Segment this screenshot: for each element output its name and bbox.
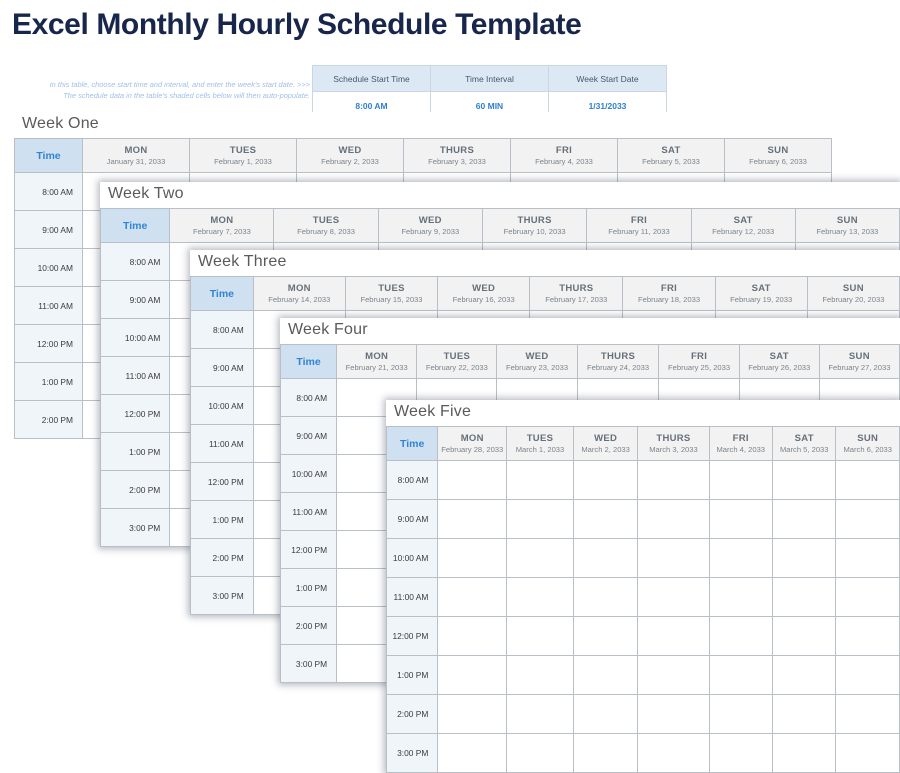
schedule-slot-cell[interactable]: [709, 695, 772, 734]
table-header-row: TimeMONFebruary 7, 2033TUESFebruary 8, 2…: [101, 209, 900, 243]
settings-header-row: Schedule Start Time Time Interval Week S…: [313, 66, 667, 92]
schedule-slot-cell[interactable]: [573, 461, 638, 500]
day-date-label: February 23, 2033: [499, 363, 574, 373]
day-date-label: February 19, 2033: [718, 295, 805, 305]
time-label-cell: 1:00 PM: [281, 569, 337, 607]
day-of-week-label: TUES: [192, 145, 294, 157]
day-column-header-wed: WEDMarch 2, 2033: [573, 427, 638, 461]
schedule-slot-cell[interactable]: [507, 617, 574, 656]
day-column-header-sat: SATFebruary 19, 2033: [715, 277, 807, 311]
schedule-slot-cell[interactable]: [507, 734, 574, 773]
day-of-week-label: TUES: [348, 283, 435, 295]
day-of-week-label: FRI: [661, 351, 736, 363]
schedule-slot-cell[interactable]: [438, 461, 507, 500]
schedule-slot-cell[interactable]: [507, 578, 574, 617]
time-column-header: Time: [15, 139, 83, 173]
schedule-slot-cell[interactable]: [638, 500, 709, 539]
day-column-header-tues: TUESFebruary 1, 2033: [190, 139, 297, 173]
day-column-header-wed: WEDFebruary 2, 2033: [297, 139, 404, 173]
time-label-cell: 11:00 AM: [387, 578, 438, 617]
schedule-slot-cell[interactable]: [836, 656, 900, 695]
day-of-week-label: MON: [339, 351, 414, 363]
time-label-cell: 11:00 AM: [281, 493, 337, 531]
day-column-header-mon: MONJanuary 31, 2033: [83, 139, 190, 173]
day-of-week-label: WED: [381, 215, 480, 227]
time-label-cell: 11:00 AM: [15, 287, 83, 325]
table-header-row: TimeMONFebruary 28, 2033TUESMarch 1, 203…: [387, 427, 900, 461]
day-date-label: February 17, 2033: [532, 295, 620, 305]
time-label-cell: 11:00 AM: [101, 357, 170, 395]
schedule-slot-cell[interactable]: [836, 500, 900, 539]
schedule-slot-cell[interactable]: [507, 539, 574, 578]
settings-header-schedule-start-time: Schedule Start Time: [313, 66, 431, 92]
day-of-week-label: THURS: [532, 283, 620, 295]
time-label-cell: 2:00 PM: [101, 471, 170, 509]
day-date-label: February 20, 2033: [810, 295, 897, 305]
table-row: 9:00 AM: [387, 500, 900, 539]
time-label-cell: 2:00 PM: [387, 695, 438, 734]
schedule-slot-cell[interactable]: [709, 617, 772, 656]
day-of-week-label: SUN: [822, 351, 897, 363]
time-label-cell: 8:00 AM: [101, 243, 170, 281]
schedule-slot-cell[interactable]: [507, 500, 574, 539]
schedule-slot-cell[interactable]: [772, 578, 835, 617]
day-date-label: February 18, 2033: [625, 295, 712, 305]
day-date-label: February 15, 2033: [348, 295, 435, 305]
schedule-slot-cell[interactable]: [573, 734, 638, 773]
schedule-slot-cell[interactable]: [709, 578, 772, 617]
time-label-cell: 3:00 PM: [101, 509, 170, 547]
week-title-week-three: Week Three: [190, 250, 900, 276]
schedule-slot-cell[interactable]: [772, 500, 835, 539]
schedule-slot-cell[interactable]: [638, 656, 709, 695]
time-label-cell: 12:00 PM: [191, 463, 254, 501]
table-row: 1:00 PM: [387, 656, 900, 695]
day-column-header-sun: SUNFebruary 20, 2033: [807, 277, 899, 311]
day-date-label: March 1, 2033: [509, 445, 571, 455]
day-date-label: February 7, 2033: [172, 227, 271, 237]
week-title-week-two: Week Two: [100, 182, 900, 208]
time-label-cell: 8:00 AM: [281, 379, 337, 417]
day-column-header-fri: FRIMarch 4, 2033: [709, 427, 772, 461]
day-date-label: February 6, 2033: [727, 157, 829, 167]
day-date-label: February 2, 2033: [299, 157, 401, 167]
day-of-week-label: FRI: [513, 145, 615, 157]
time-label-cell: 8:00 AM: [191, 311, 254, 349]
schedule-slot-cell[interactable]: [638, 461, 709, 500]
day-column-header-thurs: THURSFebruary 17, 2033: [530, 277, 623, 311]
day-of-week-label: SUN: [727, 145, 829, 157]
week-title-week-five: Week Five: [386, 400, 900, 426]
schedule-slot-cell[interactable]: [709, 539, 772, 578]
schedule-slot-cell[interactable]: [573, 617, 638, 656]
time-label-cell: 12:00 PM: [281, 531, 337, 569]
time-label-cell: 2:00 PM: [281, 607, 337, 645]
table-row: 12:00 PM: [387, 617, 900, 656]
day-date-label: February 24, 2033: [580, 363, 657, 373]
time-column-header: Time: [387, 427, 438, 461]
schedule-slot-cell[interactable]: [836, 539, 900, 578]
week-title-week-one: Week One: [14, 112, 832, 138]
day-date-label: March 4, 2033: [712, 445, 770, 455]
day-date-label: February 16, 2033: [440, 295, 527, 305]
day-column-header-sun: SUNMarch 6, 2033: [836, 427, 900, 461]
day-of-week-label: WED: [440, 283, 527, 295]
day-of-week-label: FRI: [589, 215, 688, 227]
time-label-cell: 3:00 PM: [387, 734, 438, 773]
table-row: 2:00 PM: [387, 695, 900, 734]
instructions-line-1: In this table, choose start time and int…: [18, 79, 310, 90]
day-column-header-wed: WEDFebruary 16, 2033: [438, 277, 530, 311]
day-of-week-label: FRI: [712, 433, 770, 445]
schedule-slot-cell[interactable]: [573, 500, 638, 539]
table-row: 11:00 AM: [387, 578, 900, 617]
day-of-week-label: SUN: [810, 283, 897, 295]
table-row: 8:00 AM: [387, 461, 900, 500]
schedule-slot-cell[interactable]: [772, 734, 835, 773]
day-date-label: February 12, 2033: [694, 227, 793, 237]
time-label-cell: 12:00 PM: [15, 325, 83, 363]
time-label-cell: 8:00 AM: [15, 173, 83, 211]
schedule-slot-cell[interactable]: [438, 500, 507, 539]
day-column-header-tues: TUESMarch 1, 2033: [507, 427, 574, 461]
time-label-cell: 3:00 PM: [191, 577, 254, 615]
schedule-slot-cell[interactable]: [709, 461, 772, 500]
time-label-cell: 9:00 AM: [191, 349, 254, 387]
schedule-slot-cell[interactable]: [836, 734, 900, 773]
day-column-header-mon: MONFebruary 14, 2033: [253, 277, 345, 311]
schedule-slot-cell[interactable]: [573, 578, 638, 617]
instructions-line-2: The schedule data in the table's shaded …: [18, 90, 310, 101]
day-date-label: February 9, 2033: [381, 227, 480, 237]
time-label-cell: 12:00 PM: [387, 617, 438, 656]
day-date-label: February 4, 2033: [513, 157, 615, 167]
day-of-week-label: WED: [299, 145, 401, 157]
day-date-label: March 2, 2033: [576, 445, 636, 455]
time-label-cell: 2:00 PM: [191, 539, 254, 577]
day-of-week-label: MON: [172, 215, 271, 227]
day-column-header-sat: SATMarch 5, 2033: [772, 427, 835, 461]
schedule-slot-cell[interactable]: [507, 656, 574, 695]
day-column-header-tues: TUESFebruary 22, 2033: [417, 345, 497, 379]
time-label-cell: 9:00 AM: [281, 417, 337, 455]
day-of-week-label: WED: [499, 351, 574, 363]
schedule-slot-cell[interactable]: [507, 695, 574, 734]
day-column-header-thurs: THURSMarch 3, 2033: [638, 427, 709, 461]
time-label-cell: 10:00 AM: [15, 249, 83, 287]
time-label-cell: 1:00 PM: [15, 363, 83, 401]
day-column-header-wed: WEDFebruary 9, 2033: [378, 209, 482, 243]
day-of-week-label: THURS: [485, 215, 585, 227]
schedule-slot-cell[interactable]: [573, 695, 638, 734]
day-column-header-fri: FRIFebruary 18, 2033: [623, 277, 715, 311]
table-header-row: TimeMONJanuary 31, 2033TUESFebruary 1, 2…: [15, 139, 832, 173]
day-column-header-sat: SATFebruary 12, 2033: [691, 209, 795, 243]
day-date-label: March 6, 2033: [838, 445, 897, 455]
table-row: 3:00 PM: [387, 734, 900, 773]
schedule-slot-cell[interactable]: [709, 500, 772, 539]
schedule-slot-cell[interactable]: [438, 734, 507, 773]
day-of-week-label: WED: [576, 433, 636, 445]
settings-header-week-start-date: Week Start Date: [549, 66, 667, 92]
time-label-cell: 9:00 AM: [101, 281, 170, 319]
schedule-slot-cell[interactable]: [438, 656, 507, 695]
day-date-label: February 13, 2033: [798, 227, 897, 237]
day-of-week-label: SAT: [694, 215, 793, 227]
day-column-header-tues: TUESFebruary 8, 2033: [274, 209, 378, 243]
time-label-cell: 9:00 AM: [387, 500, 438, 539]
time-label-cell: 10:00 AM: [281, 455, 337, 493]
time-label-cell: 12:00 PM: [101, 395, 170, 433]
day-column-header-fri: FRIFebruary 11, 2033: [587, 209, 691, 243]
day-column-header-wed: WEDFebruary 23, 2033: [497, 345, 577, 379]
day-column-header-sun: SUNFebruary 27, 2033: [819, 345, 899, 379]
day-of-week-label: TUES: [509, 433, 571, 445]
day-of-week-label: SAT: [742, 351, 817, 363]
schedule-slot-cell[interactable]: [772, 539, 835, 578]
schedule-slot-cell[interactable]: [836, 578, 900, 617]
schedule-slot-cell[interactable]: [772, 695, 835, 734]
schedule-slot-cell[interactable]: [507, 461, 574, 500]
schedule-slot-cell[interactable]: [836, 695, 900, 734]
day-of-week-label: MON: [440, 433, 504, 445]
day-date-label: February 14, 2033: [256, 295, 343, 305]
day-of-week-label: THURS: [640, 433, 706, 445]
day-of-week-label: TUES: [276, 215, 375, 227]
day-date-label: February 3, 2033: [406, 157, 508, 167]
schedule-slot-cell[interactable]: [772, 617, 835, 656]
time-label-cell: 3:00 PM: [281, 645, 337, 683]
day-column-header-thurs: THURSFebruary 3, 2033: [404, 139, 511, 173]
day-column-header-sat: SATFebruary 26, 2033: [739, 345, 819, 379]
schedule-slot-cell[interactable]: [638, 734, 709, 773]
schedule-slot-cell[interactable]: [836, 617, 900, 656]
day-column-header-fri: FRIFebruary 25, 2033: [659, 345, 739, 379]
day-column-header-sun: SUNFebruary 13, 2033: [795, 209, 899, 243]
schedule-slot-cell[interactable]: [709, 734, 772, 773]
day-of-week-label: TUES: [419, 351, 494, 363]
schedule-slot-cell[interactable]: [438, 617, 507, 656]
day-of-week-label: MON: [85, 145, 187, 157]
day-date-label: February 26, 2033: [742, 363, 817, 373]
day-of-week-label: FRI: [625, 283, 712, 295]
schedule-slot-cell[interactable]: [573, 539, 638, 578]
day-column-header-sun: SUNFebruary 6, 2033: [725, 139, 832, 173]
time-label-cell: 10:00 AM: [387, 539, 438, 578]
day-date-label: February 27, 2033: [822, 363, 897, 373]
time-label-cell: 10:00 AM: [101, 319, 170, 357]
time-label-cell: 1:00 PM: [101, 433, 170, 471]
day-of-week-label: SAT: [718, 283, 805, 295]
table-header-row: TimeMONFebruary 14, 2033TUESFebruary 15,…: [191, 277, 900, 311]
day-date-label: February 21, 2033: [339, 363, 414, 373]
time-column-header: Time: [191, 277, 254, 311]
schedule-slot-cell[interactable]: [772, 461, 835, 500]
day-of-week-label: THURS: [580, 351, 657, 363]
time-label-cell: 10:00 AM: [191, 387, 254, 425]
day-column-header-tues: TUESFebruary 15, 2033: [345, 277, 437, 311]
day-column-header-sat: SATFebruary 5, 2033: [618, 139, 725, 173]
day-of-week-label: SUN: [838, 433, 897, 445]
schedule-slot-cell[interactable]: [836, 461, 900, 500]
day-of-week-label: SAT: [775, 433, 833, 445]
day-of-week-label: THURS: [406, 145, 508, 157]
day-date-label: January 31, 2033: [85, 157, 187, 167]
schedule-slot-cell[interactable]: [438, 578, 507, 617]
day-date-label: February 1, 2033: [192, 157, 294, 167]
time-label-cell: 1:00 PM: [387, 656, 438, 695]
day-date-label: February 5, 2033: [620, 157, 722, 167]
week-card-week-five: Week FiveTimeMONFebruary 28, 2033TUESMar…: [386, 400, 900, 773]
settings-header-time-interval: Time Interval: [431, 66, 549, 92]
page-title: Excel Monthly Hourly Schedule Template: [12, 8, 581, 42]
day-column-header-mon: MONFebruary 21, 2033: [337, 345, 417, 379]
time-column-header: Time: [101, 209, 170, 243]
day-date-label: February 22, 2033: [419, 363, 494, 373]
time-label-cell: 11:00 AM: [191, 425, 254, 463]
schedule-slot-cell[interactable]: [438, 695, 507, 734]
day-date-label: February 25, 2033: [661, 363, 736, 373]
day-date-label: February 8, 2033: [276, 227, 375, 237]
schedule-slot-cell[interactable]: [638, 617, 709, 656]
day-date-label: February 11, 2033: [589, 227, 688, 237]
day-column-header-thurs: THURSFebruary 10, 2033: [482, 209, 587, 243]
day-date-label: February 10, 2033: [485, 227, 585, 237]
day-column-header-mon: MONFebruary 28, 2033: [438, 427, 507, 461]
time-label-cell: 1:00 PM: [191, 501, 254, 539]
time-label-cell: 2:00 PM: [15, 401, 83, 439]
day-of-week-label: SUN: [798, 215, 897, 227]
time-column-header: Time: [281, 345, 337, 379]
table-header-row: TimeMONFebruary 21, 2033TUESFebruary 22,…: [281, 345, 900, 379]
schedule-slot-cell[interactable]: [638, 539, 709, 578]
day-date-label: March 5, 2033: [775, 445, 833, 455]
schedule-slot-cell[interactable]: [638, 578, 709, 617]
table-row: 10:00 AM: [387, 539, 900, 578]
schedule-slot-cell[interactable]: [638, 695, 709, 734]
schedule-slot-cell[interactable]: [573, 656, 638, 695]
schedule-slot-cell[interactable]: [709, 656, 772, 695]
instructions-note: In this table, choose start time and int…: [18, 79, 310, 102]
day-of-week-label: MON: [256, 283, 343, 295]
day-date-label: March 3, 2033: [640, 445, 706, 455]
day-date-label: February 28, 2033: [440, 445, 504, 455]
schedule-table-week-five: TimeMONFebruary 28, 2033TUESMarch 1, 203…: [386, 426, 900, 773]
day-column-header-fri: FRIFebruary 4, 2033: [511, 139, 618, 173]
schedule-slot-cell[interactable]: [438, 539, 507, 578]
day-of-week-label: SAT: [620, 145, 722, 157]
day-column-header-thurs: THURSFebruary 24, 2033: [577, 345, 659, 379]
time-label-cell: 8:00 AM: [387, 461, 438, 500]
time-label-cell: 9:00 AM: [15, 211, 83, 249]
schedule-slot-cell[interactable]: [772, 656, 835, 695]
week-title-week-four: Week Four: [280, 318, 900, 344]
day-column-header-mon: MONFebruary 7, 2033: [170, 209, 274, 243]
